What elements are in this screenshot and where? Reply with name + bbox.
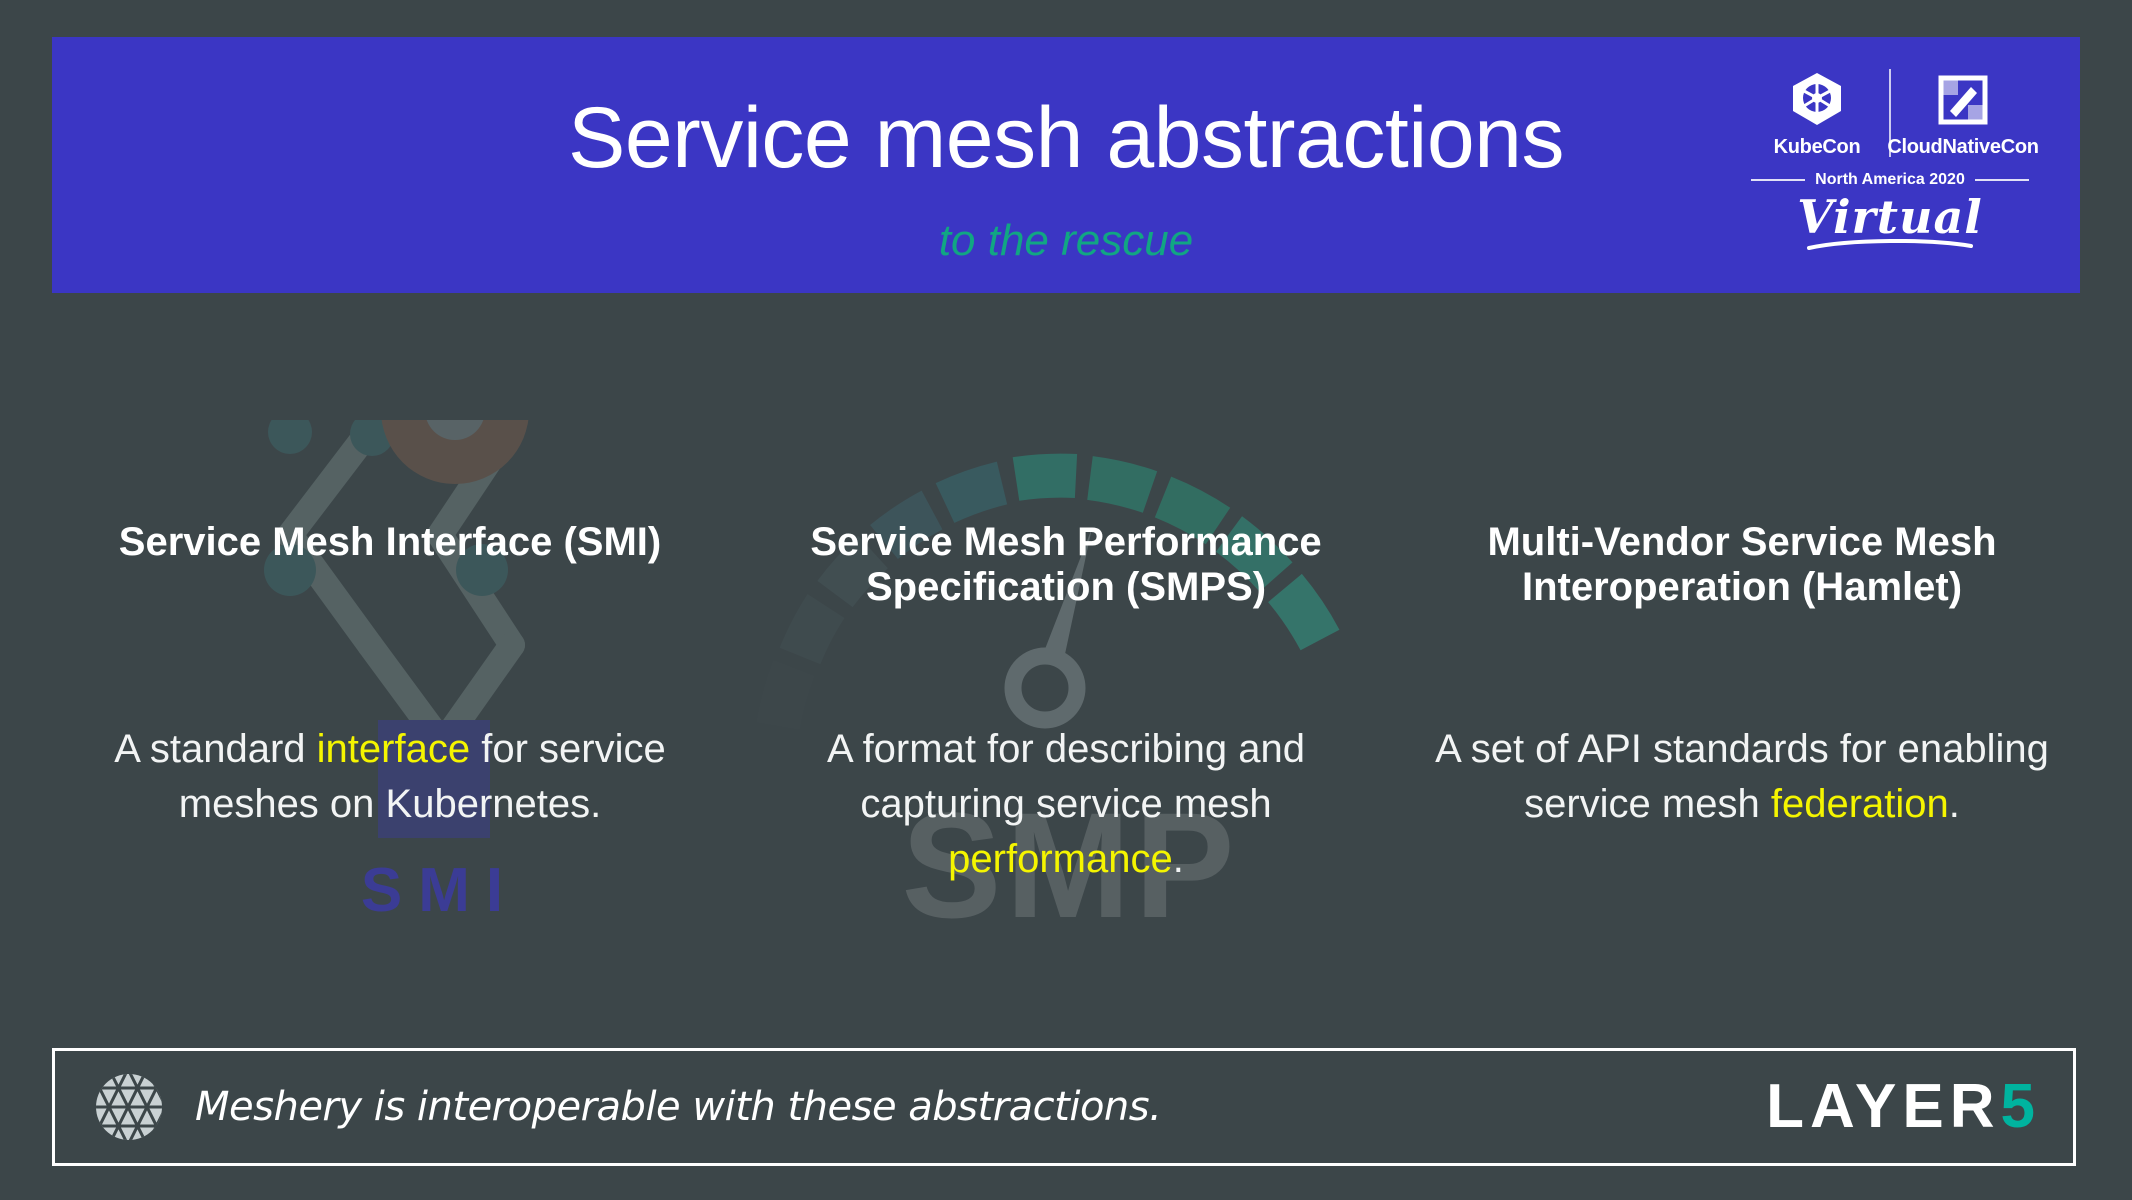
column-heading: Multi-Vendor Service Mesh Interoperation… — [1432, 520, 2052, 640]
layer5-wordmark: LAYER — [1766, 1076, 2000, 1138]
layer5-digit: 5 — [2001, 1076, 2035, 1138]
column-heading: Service Mesh Performance Specification (… — [756, 520, 1376, 640]
body-text-before: A format for describing and capturing se… — [827, 727, 1305, 826]
column-body: A standard interface for service meshes … — [80, 722, 700, 832]
slide-header: Service mesh abstractions to the rescue — [52, 37, 2080, 293]
region-label: North America 2020 — [1815, 171, 1965, 189]
layer5-logo: LAYER5 — [1766, 1076, 2035, 1138]
slide-root: SMI SMP Service mesh abstractions to the… — [0, 0, 2132, 1200]
footer-note: Meshery is interoperable with these abst… — [195, 1084, 1161, 1130]
column-smps: Service Mesh Performance Specification (… — [728, 520, 1404, 888]
column-smi: Service Mesh Interface (SMI) A standard … — [52, 520, 728, 888]
abstractions-columns: Service Mesh Interface (SMI) A standard … — [52, 520, 2080, 888]
kubernetes-helm-icon — [1789, 68, 1845, 132]
body-highlight: interface — [317, 727, 470, 771]
body-highlight: performance — [948, 837, 1173, 881]
virtual-label: Virtual — [1740, 191, 2040, 243]
region-rule-left — [1751, 179, 1805, 181]
region-rule-right — [1975, 179, 2029, 181]
body-text-before: A standard — [114, 727, 316, 771]
meshery-logo-icon — [93, 1071, 165, 1143]
kubecon-label: KubeCon — [1774, 136, 1861, 159]
slide-footer: Meshery is interoperable with these abst… — [52, 1048, 2076, 1166]
column-body: A format for describing and capturing se… — [756, 722, 1376, 888]
cloudnative-square-icon — [1935, 68, 1991, 132]
kubecon-cloudnativecon-logo: KubeCon CloudNativeCon — [1740, 59, 2040, 269]
body-highlight: federation — [1771, 782, 1949, 826]
cloudnativecon-label: CloudNativeCon — [1887, 136, 2038, 159]
column-hamlet: Multi-Vendor Service Mesh Interoperation… — [1404, 520, 2080, 888]
column-heading: Service Mesh Interface (SMI) — [80, 520, 700, 640]
body-text-after: . — [1173, 837, 1184, 881]
body-text-after: . — [1949, 782, 1960, 826]
column-body: A set of API standards for enabling serv… — [1432, 722, 2052, 832]
